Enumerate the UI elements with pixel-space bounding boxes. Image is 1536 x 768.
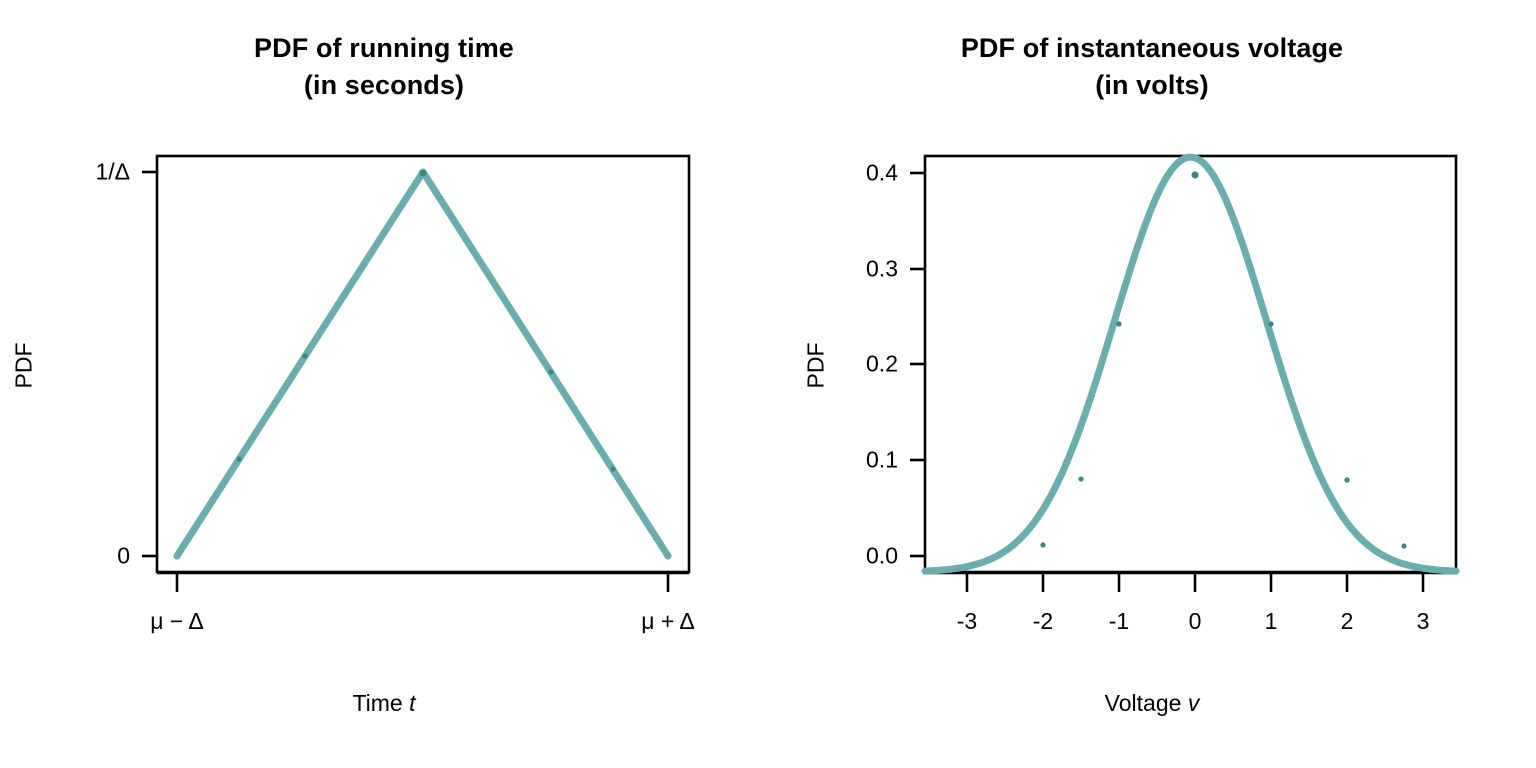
panel-instantaneous-voltage: PDF of instantaneous voltage (in volts) — [768, 0, 1536, 768]
plot-box — [157, 156, 689, 572]
figure-canvas: PDF of running time (in seconds) 1/Δ — [0, 0, 1536, 768]
x-tick-label: 1 — [1265, 608, 1278, 635]
x-axis-label-text: Time — [352, 690, 409, 716]
x-tick-label: -1 — [1109, 608, 1129, 635]
y-axis-label: PDF — [11, 336, 38, 396]
y-tick-label: 0.1 — [814, 447, 898, 474]
panel-running-time: PDF of running time (in seconds) 1/Δ — [0, 0, 768, 768]
x-tick-label: μ + Δ — [641, 608, 695, 635]
plot-area-instantaneous-voltage — [768, 0, 1536, 768]
y-tick-label: 1/Δ — [58, 159, 130, 186]
x-tick-label: -2 — [1033, 608, 1053, 635]
y-tick-label: 0.3 — [814, 256, 898, 283]
x-tick-label: μ − Δ — [150, 608, 204, 635]
x-axis-label: Time t — [0, 690, 768, 717]
y-tick-label: 0.4 — [814, 160, 898, 187]
y-tick-label: 0.0 — [814, 543, 898, 570]
gaussian-pdf-curve — [925, 157, 1456, 571]
x-tick-label: -3 — [957, 608, 977, 635]
x-axis-label-symbol: t — [409, 690, 415, 716]
plot-area-running-time — [0, 0, 768, 768]
data-point-markers — [1040, 171, 1406, 548]
x-tick-label: 0 — [1189, 608, 1202, 635]
x-axis-label-symbol: v — [1188, 690, 1200, 716]
y-tick-label: 0 — [58, 543, 130, 570]
plot-box — [925, 156, 1456, 572]
x-axis-label-text: Voltage — [1105, 690, 1188, 716]
x-tick-label: 2 — [1341, 608, 1354, 635]
y-axis-label: PDF — [803, 336, 830, 396]
triangular-pdf-curve — [177, 172, 668, 556]
data-point-markers — [236, 170, 615, 472]
x-tick-label: 3 — [1417, 608, 1430, 635]
x-axis-label: Voltage v — [768, 690, 1536, 717]
